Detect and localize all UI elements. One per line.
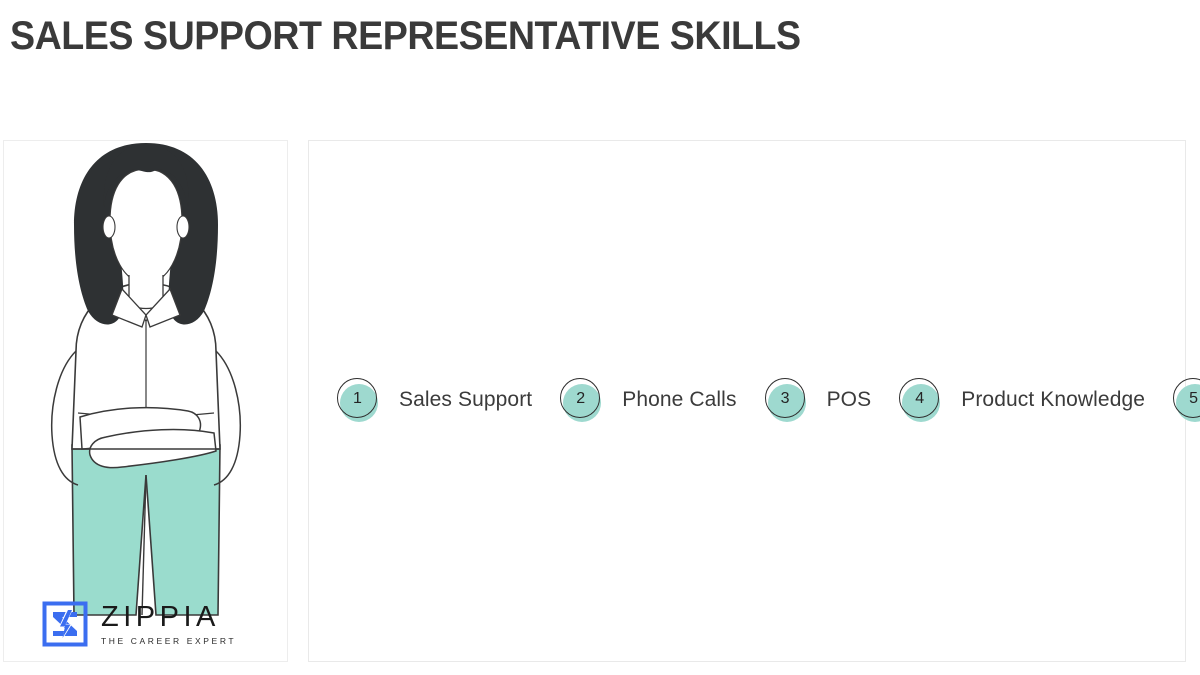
skill-rank-number: 1 [337, 378, 378, 419]
skill-rank-badge: 4 [899, 378, 943, 422]
illustration-frame [4, 141, 289, 621]
skill-row: 1Sales Support [309, 173, 532, 627]
skill-label: Sales Support [399, 388, 532, 412]
logo-wordmark: ZIPPIA [101, 603, 236, 632]
skill-label: POS [827, 388, 872, 412]
logo-tagline: THE CAREER EXPERT [101, 637, 236, 646]
skill-rank-badge: 2 [560, 378, 604, 422]
skills-panel: 1Sales Support2Phone Calls3POS4Product K… [308, 140, 1186, 662]
skill-row: 3POS [737, 173, 872, 627]
skill-rank-badge: 5 [1173, 378, 1200, 422]
page-title: SALES SUPPORT REPRESENTATIVE SKILLS [10, 14, 801, 59]
skill-label: Product Knowledge [961, 388, 1145, 412]
skill-rank-number: 5 [1173, 378, 1200, 419]
skill-row: 4Product Knowledge [871, 173, 1145, 627]
infographic-page: SALES SUPPORT REPRESENTATIVE SKILLS [0, 0, 1200, 675]
illustration-card: ZIPPIA THE CAREER EXPERT [3, 140, 288, 662]
skill-row: 5Customer Complaints [1145, 173, 1200, 627]
zippia-z-mark [42, 601, 88, 647]
skill-row: 2Phone Calls [532, 173, 736, 627]
skill-rank-badge: 1 [337, 378, 381, 422]
skill-rank-number: 4 [899, 378, 940, 419]
skill-rank-badge: 3 [765, 378, 809, 422]
skills-list: 1Sales Support2Phone Calls3POS4Product K… [309, 141, 1185, 661]
zippia-logo: ZIPPIA THE CAREER EXPERT [42, 601, 236, 647]
skill-label: Phone Calls [622, 388, 736, 412]
skill-rank-number: 2 [560, 378, 601, 419]
skill-rank-number: 3 [765, 378, 806, 419]
person-illustration [2, 115, 292, 615]
